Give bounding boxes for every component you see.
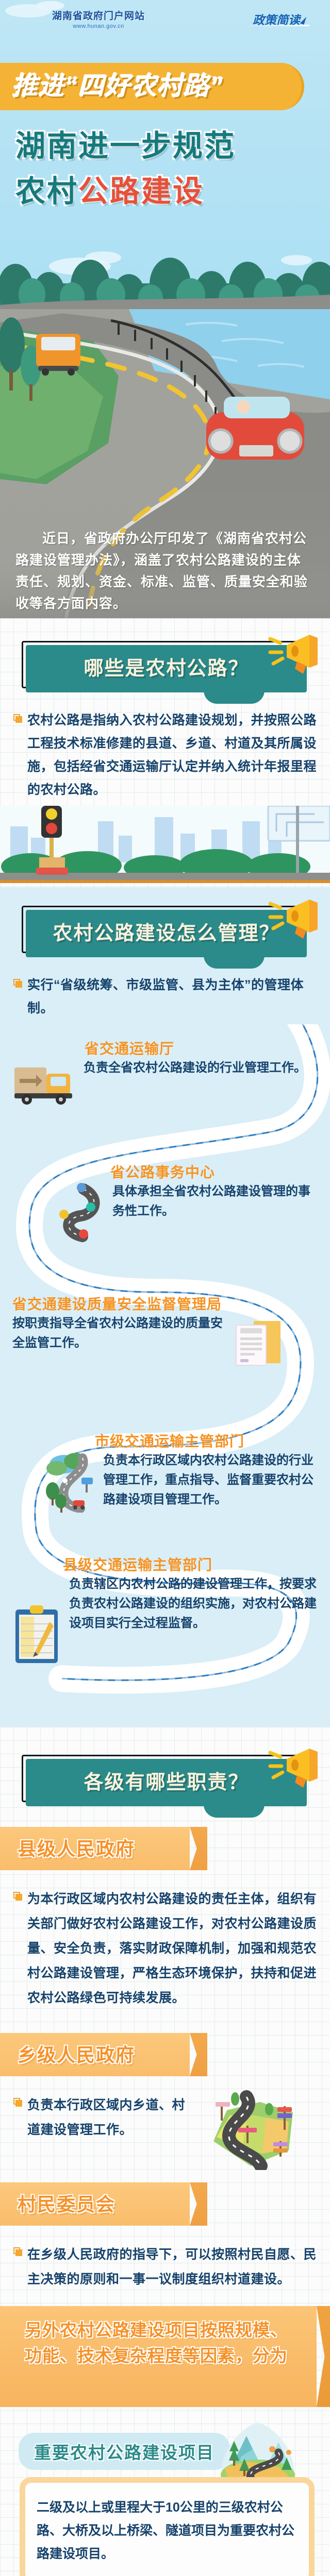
- ribbon-township-government: 乡级人民政府: [0, 2033, 190, 2076]
- bullet-item: 为本行政区域内农村公路建设的责任主体，组织有关部门做好农村公路建设工作，对农村公…: [0, 1873, 330, 2014]
- section-how-managed: 农村公路建设怎么管理？ 实行“省级统筹、市级监管、县为主体”的管理体制。: [0, 887, 330, 1727]
- road-illustration-section: 近日，省政府办公厅印发了《湖南省农村公路建设管理办法》，涵盖了农村公路建设的主体…: [0, 309, 330, 618]
- bullet-text: 负责本行政区域内乡道、村道建设管理工作。: [27, 2093, 193, 2142]
- delivery-truck-icon: [12, 1058, 79, 1108]
- megaphone-icon: [266, 630, 323, 677]
- hero-title-line1: 湖南进一步规范: [15, 122, 236, 165]
- org-road-flow: 省交通运输厅 负责全省农村公路建设的行业管理工作。 省公路: [0, 1024, 330, 1727]
- org-name: 省公路事务中心: [12, 1161, 318, 1182]
- org-description: 具体承担全省农村公路建设管理的事务性工作。: [109, 1182, 318, 1221]
- heading-text: 哪些是农村公路？: [26, 649, 307, 688]
- square-bullet-icon: [13, 2247, 22, 2256]
- site-header: 湖南省政府门户网站 www.hunan.gov.cn 政策简读: [0, 7, 330, 36]
- bullet-item: 负责本行政区域内乡道、村道建设管理工作。: [0, 2079, 206, 2146]
- org-name: 市级交通运输主管部门: [12, 1430, 318, 1451]
- square-bullet-icon: [13, 1892, 22, 1901]
- bullet-text: 在乡级人民政府的指导下，可以按照村民自愿、民主决策的原则和一事一议制度组织村道建…: [27, 2242, 317, 2292]
- section-heading-how-managed: 农村公路建设怎么管理？: [0, 903, 330, 969]
- heading-text: 各级有哪些职责？: [26, 1763, 307, 1802]
- org-description: 按职责指导全省农村公路建设的质量安全监管工作。: [12, 1314, 229, 1353]
- ribbon-label: 乡级人民政府: [18, 2040, 135, 2067]
- square-bullet-icon: [13, 979, 22, 988]
- category-label: 重要农村公路建设项目: [19, 2433, 230, 2470]
- forest-hills-illustration: [0, 247, 330, 309]
- org-name: 省交通建设质量安全监督管理局: [12, 1293, 318, 1314]
- intro-paragraph-wrap: 近日，省政府办公厅印发了《湖南省农村公路建设管理办法》，涵盖了农村公路建设的主体…: [0, 528, 330, 614]
- clipboard-pencil-icon: [12, 1603, 64, 1665]
- documents-folder-icon: [229, 1314, 286, 1370]
- rural-road-signs-icon: [206, 2088, 299, 2170]
- bullet-item: 在乡级人民政府的指导下，可以按照村民自愿、民主决策的原则和一事一议制度组织村道建…: [0, 2229, 330, 2296]
- winding-road-pins-icon: [53, 1182, 109, 1244]
- site-title: 湖南省政府门户网站: [39, 8, 158, 22]
- classification-note-text: 另外农村公路建设项目按照规模、功能、技术复杂程度等因素，分为: [25, 2317, 303, 2369]
- hero-title-line2: 农村公路建设: [15, 167, 204, 210]
- pencil-icon: [300, 15, 307, 25]
- org-item-city-transport-dept: 市级交通运输主管部门: [0, 1370, 330, 1513]
- infographic-page: 湖南省政府门户网站 www.hunan.gov.cn 政策简读 推进“四好农村路…: [0, 0, 330, 2576]
- site-branding: 湖南省政府门户网站 www.hunan.gov.cn: [39, 8, 158, 29]
- ribbon-label: 县级人民政府: [18, 1834, 135, 1861]
- section-what-is-rural-road: 哪些是农村公路？ 农村公路是指纳入农村公路建设规划，并按照公路工程技术标准修建的…: [0, 618, 330, 887]
- bullet-item: 农村公路是指纳入农村公路建设规划，并按照公路工程技术标准修建的县道、乡道、村道及…: [0, 704, 330, 806]
- hero-title-line2-red: 公路建设: [78, 175, 204, 208]
- org-name: 县级交通运输主管部门: [12, 1554, 318, 1574]
- bullet-item: 实行“省级统筹、市级监管、县为主体”的管理体制。: [0, 969, 330, 1024]
- ribbon-label: 村民委员会: [18, 2190, 115, 2216]
- square-bullet-icon: [13, 2098, 22, 2107]
- header-underline: [242, 25, 309, 26]
- category-description: 二级及以上或里程大于10公里的三级农村公路、大桥及以上桥梁、隧道项目为重要农村公…: [37, 2496, 298, 2566]
- site-url: www.hunan.gov.cn: [39, 23, 158, 29]
- bullet-text: 农村公路是指纳入农村公路建设规划，并按照公路工程技术标准修建的县道、乡道、村道及…: [27, 709, 317, 802]
- org-description: 负责辖区内农村公路的建设管理工作，按要求负责农村公路建设的组织实施，对农村公路建…: [64, 1574, 318, 1633]
- megaphone-icon: [266, 1743, 323, 1791]
- org-item-provincial-transport-dept: 省交通运输厅 负责全省农村公路建设的行业管理工作。: [0, 1024, 330, 1108]
- org-description: 负责本行政区域内农村公路建设的行业管理工作，重点指导、监督重要农村公路建设项目管…: [100, 1451, 318, 1510]
- ribbon-village-committee: 村民委员会: [0, 2182, 190, 2226]
- category-important-card: 二级及以上或里程大于10公里的三级农村公路、大桥及以上桥梁、隧道项目为重要农村公…: [20, 2477, 315, 2576]
- org-item-county-transport-dept: 县级交通运输主管部门 负责辖区内农村公路的建设管理工作，按要求负责农村公路建设的…: [0, 1513, 330, 1717]
- bullet-text: 实行“省级统筹、市级监管、县为主体”的管理体制。: [27, 974, 317, 1020]
- org-name: 省交通运输厅: [12, 1038, 318, 1058]
- ribbon-county-government: 县级人民政府: [0, 1827, 190, 1870]
- org-item-provincial-highway-center: 省公路事务中心 具体承担全省农村公路建设管理的事务性工作。: [0, 1108, 330, 1244]
- heading-text: 农村公路建设怎么管理？: [26, 914, 307, 953]
- countryside-road-icon: [43, 1451, 100, 1513]
- bullet-text: 为本行政区域内农村公路建设的责任主体，组织有关部门做好农村公路建设工作，对农村公…: [27, 1887, 317, 2010]
- section-heading-what-is: 哪些是农村公路？: [0, 638, 330, 704]
- square-bullet-icon: [13, 714, 22, 723]
- section-heading-duties: 各级有哪些职责？: [0, 1752, 330, 1818]
- city-traffic-illustration: [0, 806, 330, 883]
- hero-title-line2-green: 农村: [15, 175, 78, 208]
- megaphone-icon: [266, 894, 323, 942]
- classification-note-block: 另外农村公路建设项目按照规模、功能、技术复杂程度等因素，分为: [0, 2306, 317, 2407]
- org-item-quality-safety-bureau: 省交通建设质量安全监督管理局 按职责指导全省农村公路建设的质量安全监管工作。: [0, 1244, 330, 1370]
- intro-paragraph: 近日，省政府办公厅印发了《湖南省农村公路建设管理办法》，涵盖了农村公路建设的主体…: [15, 528, 315, 614]
- section-duties: 各级有哪些职责？ 县级人民政府 为本行政区域内农村公路建设的责任主体，组织有关部…: [0, 1727, 330, 2576]
- org-description: 负责全省农村公路建设的行业管理工作。: [79, 1058, 306, 1078]
- hero-section: 湖南省政府门户网站 www.hunan.gov.cn 政策简读 推进“四好农村路…: [0, 0, 330, 309]
- category-important-header: 重要农村公路建设项目: [0, 2422, 330, 2484]
- hero-banner-text: 推进“四好农村路”: [12, 66, 301, 107]
